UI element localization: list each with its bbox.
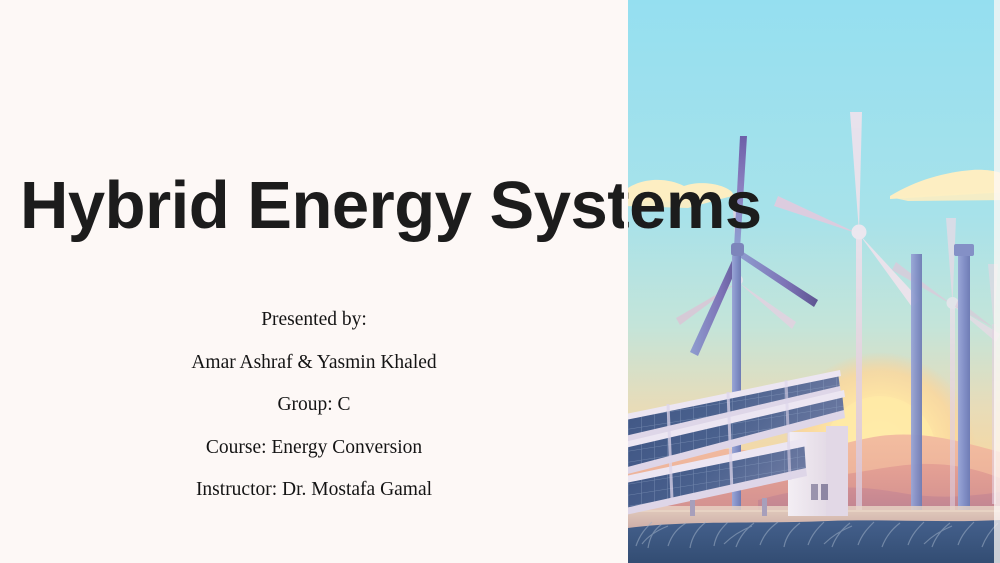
grass-foreground <box>628 520 1000 563</box>
subtitle-line-authors: Amar Ashraf & Yasmin Khaled <box>0 353 628 373</box>
subtitle-line-group: Group: C <box>0 395 628 415</box>
art-left-edge <box>624 0 628 563</box>
subtitle-line-course: Course: Energy Conversion <box>0 438 628 458</box>
subtitle-line-presented-by: Presented by: <box>0 310 628 330</box>
art-right-edge <box>994 0 1000 563</box>
subtitle-line-instructor: Instructor: Dr. Mostafa Gamal <box>0 480 628 500</box>
presentation-slide: Presented by: Amar Ashraf & Yasmin Khale… <box>0 0 1000 563</box>
renewable-energy-illustration <box>628 0 1000 563</box>
subtitle-block: Presented by: Amar Ashraf & Yasmin Khale… <box>0 310 628 500</box>
page-title: Hybrid Energy Systems <box>20 172 680 239</box>
title-pane: Presented by: Amar Ashraf & Yasmin Khale… <box>0 0 628 563</box>
